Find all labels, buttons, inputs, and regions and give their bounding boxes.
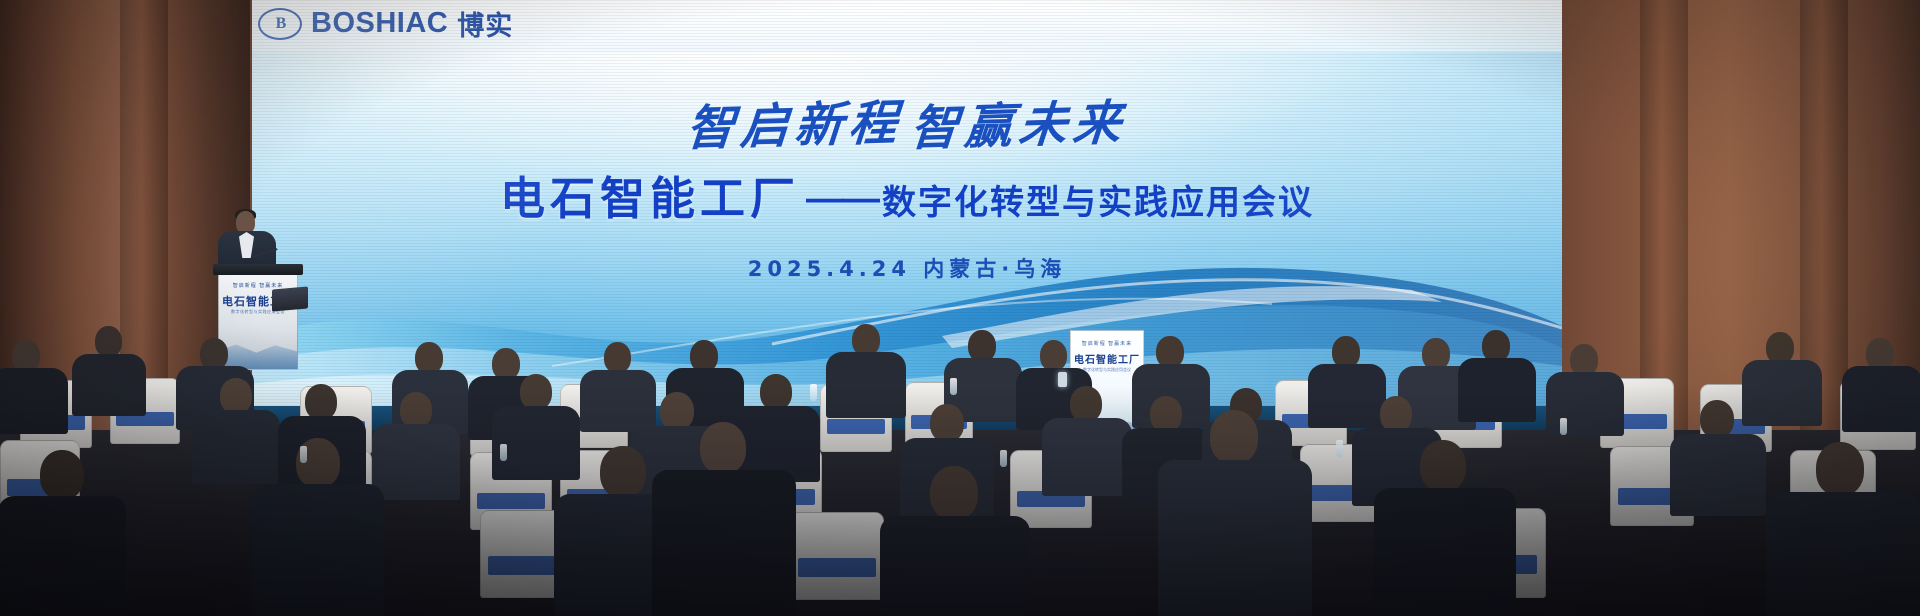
podium-top <box>213 264 303 275</box>
person-torso <box>1546 372 1624 436</box>
person-torso <box>1842 366 1920 432</box>
person-torso <box>880 516 1030 616</box>
person-head <box>660 392 694 430</box>
person-torso <box>1374 488 1516 616</box>
person-head <box>1816 442 1864 496</box>
person-head <box>930 404 964 442</box>
person-torso <box>1458 358 1536 422</box>
conference-title-dash: —— <box>800 178 882 227</box>
person-head <box>1210 410 1258 464</box>
person-torso <box>72 354 146 416</box>
person-head <box>305 384 337 420</box>
person-torso <box>1308 364 1386 428</box>
person-torso <box>372 424 460 500</box>
bottle-icon <box>500 444 507 461</box>
person-head <box>220 378 252 414</box>
person-head <box>604 342 631 373</box>
person-torso <box>580 370 656 432</box>
calligraphy-left: 智启新程 <box>684 83 906 159</box>
person-head <box>760 374 792 410</box>
person-head <box>40 450 84 500</box>
bottle-icon <box>1336 440 1343 457</box>
screen-headline-block: 智启新程 智赢未来 电石智能工厂 —— 数字化转型与实践应用会议 2025.4.… <box>252 86 1562 283</box>
person-torso <box>1158 460 1312 616</box>
person-head <box>520 374 552 410</box>
person-torso <box>652 470 796 616</box>
calligraphy-right: 智赢未来 <box>908 83 1130 159</box>
bottle-icon <box>950 378 957 395</box>
brand-lockup: B BOSHIAC 博实 <box>258 4 513 43</box>
brand-name-chinese: 博实 <box>457 4 513 43</box>
audience-area <box>0 300 1920 616</box>
bottle-icon <box>810 384 817 401</box>
conference-title-row: 电石智能工厂 —— 数字化转型与实践应用会议 <box>252 162 1562 227</box>
person-torso <box>826 352 906 418</box>
chair <box>790 512 884 600</box>
person-torso <box>492 406 580 480</box>
boshiac-logo-icon: B <box>258 8 302 40</box>
person-torso <box>1670 434 1766 516</box>
phone-icon <box>1058 372 1067 387</box>
screen-brand-bar: B BOSHIAC 博实 <box>252 0 1562 52</box>
person-torso <box>1042 418 1132 496</box>
bottle-icon <box>1560 418 1567 435</box>
bottle-icon <box>300 446 307 463</box>
chair-sash <box>827 419 886 434</box>
person-head <box>700 422 746 474</box>
person-head <box>95 326 122 357</box>
person-head <box>1150 396 1182 432</box>
person-head <box>400 392 432 428</box>
person-torso <box>1742 360 1822 426</box>
bottle-icon <box>1000 450 1007 467</box>
calligraphy-line: 智启新程 智赢未来 <box>252 86 1562 156</box>
brand-name-english: BOSHIAC <box>311 7 448 40</box>
conference-dateline: 2025.4.24 内蒙古·乌海 <box>252 253 1562 283</box>
chair-sash <box>798 558 875 577</box>
person-head <box>600 446 646 498</box>
person-head <box>1040 340 1067 371</box>
person-torso <box>252 484 384 616</box>
person-head <box>1380 396 1412 432</box>
person-head <box>1420 440 1466 492</box>
chair-sash <box>477 493 544 510</box>
conference-title-main: 电石智能工厂 <box>500 162 800 227</box>
person-torso <box>1766 492 1920 616</box>
person-torso <box>0 496 126 616</box>
person-torso <box>0 368 68 434</box>
person-head <box>1700 400 1734 438</box>
person-torso <box>192 410 280 484</box>
person-head <box>930 466 978 520</box>
conference-photo: B BOSHIAC 博实 智启新程 智赢未来 电石智能工厂 —— 数字化转型与实… <box>0 0 1920 616</box>
conference-title-subtitle: 数字化转型与实践应用会议 <box>882 175 1314 227</box>
person-head <box>1070 386 1102 422</box>
